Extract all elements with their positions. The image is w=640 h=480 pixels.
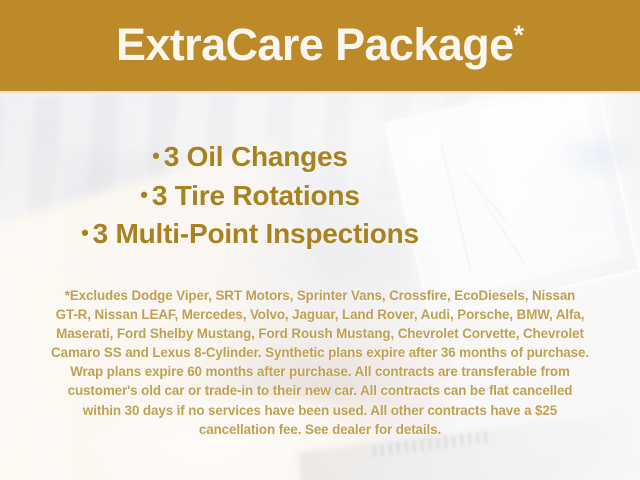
disclaimer-line: cancellation fee. See dealer for details…: [28, 420, 612, 439]
disclaimer-line: Camaro SS and Lexus 8-Cylinder. Syntheti…: [28, 343, 612, 362]
list-item-label: 3 Multi-Point Inspections: [93, 218, 419, 249]
disclaimer-line: Maserati, Ford Shelby Mustang, Ford Rous…: [28, 324, 612, 343]
disclaimer-line: customer's old car or trade-in to their …: [28, 381, 612, 400]
page-title-asterisk: *: [514, 20, 525, 50]
page-title: ExtraCare Package*: [116, 22, 524, 70]
bullet-dot-icon: •: [81, 220, 93, 245]
disclaimer-line: *Excludes Dodge Viper, SRT Motors, Sprin…: [28, 286, 612, 305]
disclaimer-text-block: *Excludes Dodge Viper, SRT Motors, Sprin…: [28, 286, 612, 439]
list-item: •3 Tire Rotations: [0, 177, 500, 216]
bullet-dot-icon: •: [152, 143, 164, 168]
disclaimer-line: Wrap plans expire 60 months after purcha…: [28, 362, 612, 381]
bullet-dot-icon: •: [140, 182, 152, 207]
disclaimer-line: within 30 days if no services have been …: [28, 401, 612, 420]
header-band: ExtraCare Package*: [0, 0, 640, 91]
extracare-package-promo-card: ExtraCare Package* •3 Oil Changes •3 Tir…: [0, 0, 640, 480]
list-item-label: 3 Oil Changes: [164, 141, 348, 172]
header-underline-divider: [0, 91, 640, 94]
page-title-text: ExtraCare Package: [116, 19, 514, 70]
list-item-label: 3 Tire Rotations: [152, 180, 360, 211]
disclaimer-line: GT-R, Nissan LEAF, Mercedes, Volvo, Jagu…: [28, 305, 612, 324]
benefits-list: •3 Oil Changes •3 Tire Rotations •3 Mult…: [0, 138, 640, 254]
list-item: •3 Multi-Point Inspections: [0, 215, 500, 254]
list-item: •3 Oil Changes: [0, 138, 500, 177]
